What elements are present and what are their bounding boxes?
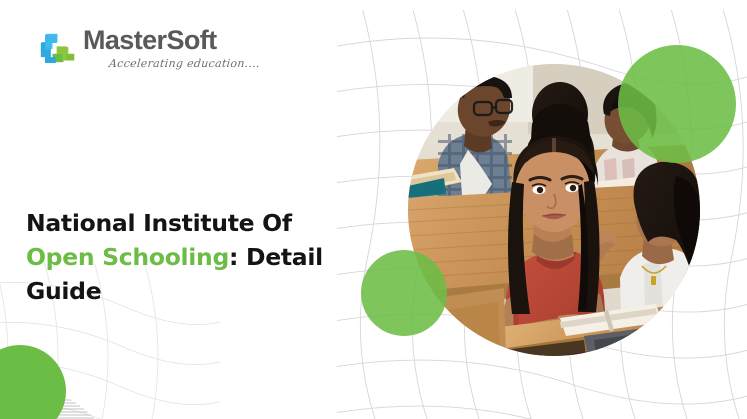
brand-tagline: Accelerating education.... xyxy=(108,57,260,70)
headline-part-1: National Institute Of xyxy=(26,209,292,237)
banner-canvas: MasterSoft Accelerating education.... Na… xyxy=(0,0,747,419)
brand-wordmark: MasterSoft xyxy=(83,26,260,54)
mastersoft-pinwheel-logo-icon xyxy=(34,28,76,68)
headline-space xyxy=(94,243,102,271)
headline-highlight-open: Open xyxy=(26,243,94,271)
green-circle-bottom-left xyxy=(0,345,66,419)
green-circle-top-right xyxy=(618,45,736,163)
brand-logo[interactable]: MasterSoft Accelerating education.... xyxy=(34,26,260,70)
headline-highlight-schooling: Schooling xyxy=(102,243,229,271)
green-circle-middle-left xyxy=(361,250,447,336)
page-title: National Institute Of Open Schooling: De… xyxy=(26,206,356,308)
